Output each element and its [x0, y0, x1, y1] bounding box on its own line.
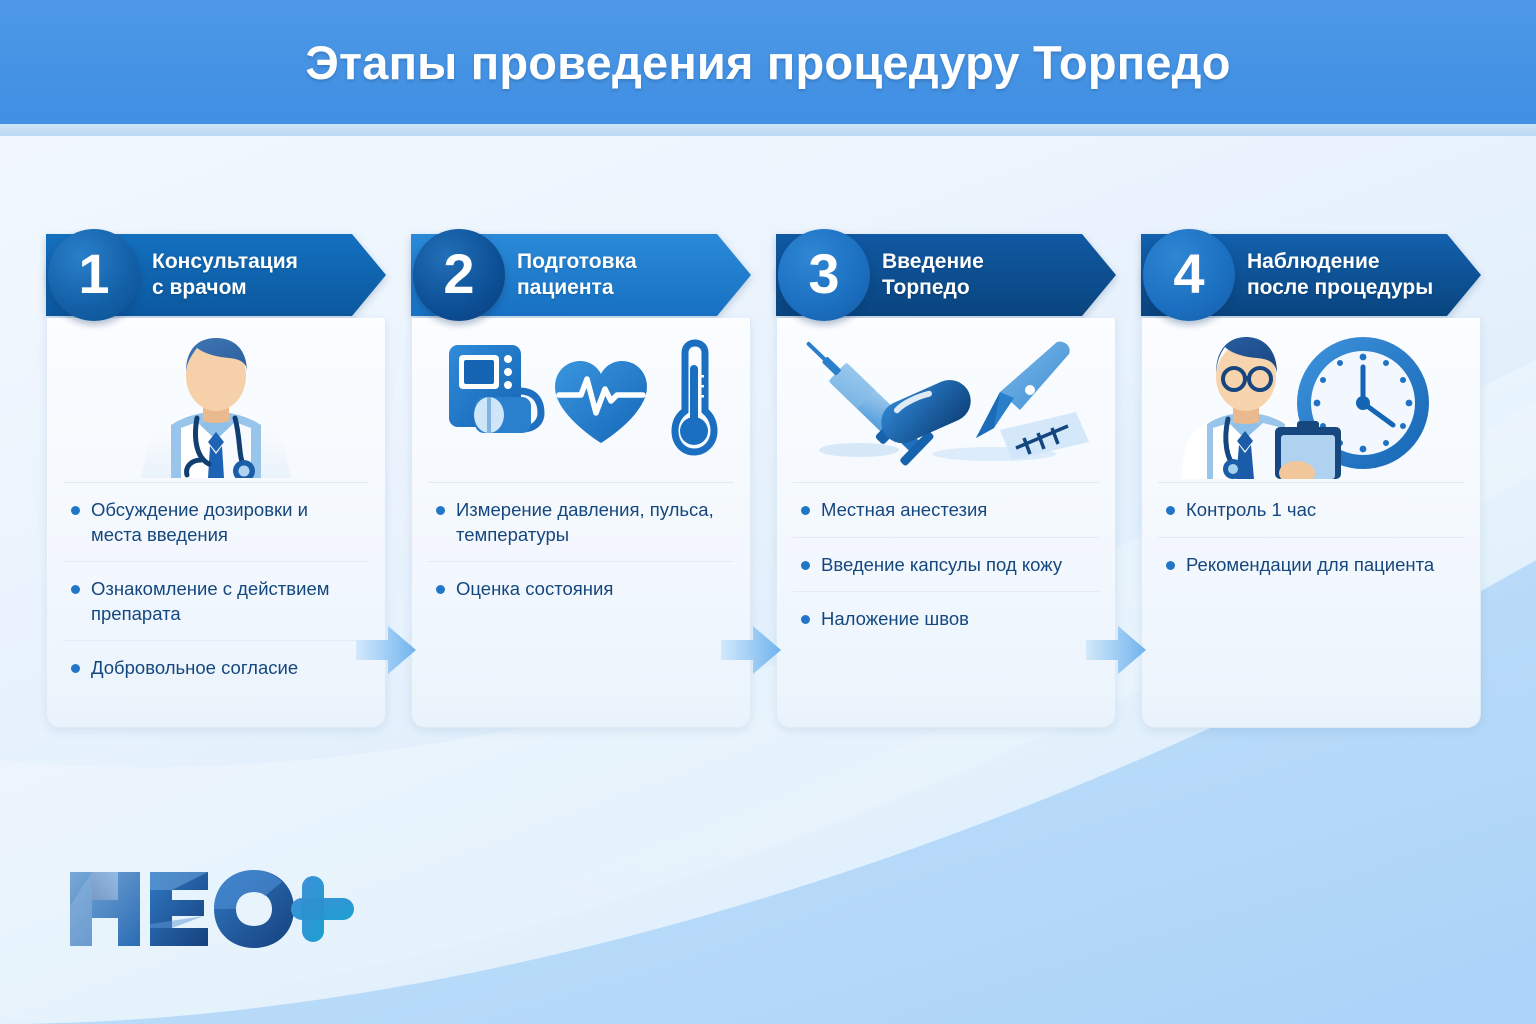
step-title-3: Введение Торпедо — [882, 232, 1100, 318]
header-underline — [0, 124, 1536, 136]
step-bullets-3: Местная анестезия Введение капсулы под к… — [777, 482, 1115, 668]
step-header-4: 4 Наблюдение после процедуры — [1141, 232, 1481, 318]
thermometer-icon — [675, 343, 714, 452]
bullet-dot-icon — [71, 664, 80, 673]
step-number-4: 4 — [1173, 246, 1204, 302]
step-header-2: 2 Подготовка пациента — [411, 232, 751, 318]
bullet-item: Местная анестезия — [793, 482, 1099, 537]
vitals-devices-icon — [441, 339, 721, 467]
step-number-badge-1: 1 — [48, 229, 140, 321]
step-number-1: 1 — [78, 246, 109, 302]
bullet-dot-icon — [801, 561, 810, 570]
page-header-band: Этапы проведения процедуру Торпедо — [0, 0, 1536, 124]
step-illustration-1 — [47, 318, 385, 482]
infographic-canvas: Этапы проведения процедуру Торпедо 1 — [0, 0, 1536, 1024]
step-title-2: Подготовка пациента — [517, 232, 735, 318]
bullet-item: Введение капсулы под кожу — [793, 537, 1099, 592]
page-title: Этапы проведения процедуру Торпедо — [305, 35, 1230, 90]
bullet-dot-icon — [1166, 561, 1175, 570]
step-illustration-2 — [412, 318, 750, 482]
neo-plus-logo[interactable] — [66, 866, 356, 950]
bullet-dot-icon — [436, 506, 445, 515]
step-header-1: 1 Консультация с врачом — [46, 232, 386, 318]
step-body-3: Местная анестезия Введение капсулы под к… — [776, 318, 1116, 728]
step-header-3: 3 Введение Торпедо — [776, 232, 1116, 318]
bullet-item: Наложение швов — [793, 591, 1099, 646]
bullet-dot-icon — [801, 615, 810, 624]
syringe-capsule-scalpel-icon — [804, 338, 1089, 468]
bullet-dot-icon — [71, 506, 80, 515]
doctor-clipboard-clock-icon — [1171, 327, 1451, 479]
connector-arrow-1 — [356, 624, 416, 676]
step-number-badge-3: 3 — [778, 229, 870, 321]
steps-row: 1 Консультация с врачом — [0, 232, 1536, 752]
bullet-item: Оценка состояния — [428, 561, 734, 616]
step-bullets-1: Обсуждение дозировки и места введения Оз… — [47, 482, 385, 717]
step-number-badge-4: 4 — [1143, 229, 1235, 321]
step-body-4: Контроль 1 час Рекомендации для пациента — [1141, 318, 1481, 728]
connector-arrow-2 — [721, 624, 781, 676]
bullet-item: Контроль 1 час — [1158, 482, 1464, 537]
step-card-4[interactable]: 4 Наблюдение после процедуры — [1141, 232, 1481, 728]
step-number-badge-2: 2 — [413, 229, 505, 321]
bullet-dot-icon — [801, 506, 810, 515]
step-number-3: 3 — [808, 246, 839, 302]
step-number-2: 2 — [443, 246, 474, 302]
step-card-1[interactable]: 1 Консультация с врачом — [46, 232, 386, 728]
bullet-dot-icon — [1166, 506, 1175, 515]
bullet-item: Рекомендации для пациента — [1158, 537, 1464, 592]
step-card-3[interactable]: 3 Введение Торпедо — [776, 232, 1116, 728]
bullet-dot-icon — [436, 585, 445, 594]
connector-arrow-3 — [1086, 624, 1146, 676]
bullet-item: Добровольное согласие — [63, 640, 369, 695]
step-illustration-3 — [777, 318, 1115, 482]
step-bullets-4: Контроль 1 час Рекомендации для пациента — [1142, 482, 1480, 613]
bullet-item: Ознакомление с действием препарата — [63, 561, 369, 640]
step-illustration-4 — [1142, 318, 1480, 482]
step-body-1: Обсуждение дозировки и места введения Оз… — [46, 318, 386, 728]
step-title-1: Консультация с врачом — [152, 232, 370, 318]
step-body-2: Измерение давления, пульса, температуры … — [411, 318, 751, 728]
bullet-item: Обсуждение дозировки и места введения — [63, 482, 369, 561]
bullet-dot-icon — [71, 585, 80, 594]
bullet-item: Измерение давления, пульса, температуры — [428, 482, 734, 561]
step-title-4: Наблюдение после процедуры — [1247, 232, 1465, 318]
doctor-stethoscope-icon — [111, 328, 321, 478]
step-bullets-2: Измерение давления, пульса, температуры … — [412, 482, 750, 638]
step-card-2[interactable]: 2 Подготовка пациента — [411, 232, 751, 728]
